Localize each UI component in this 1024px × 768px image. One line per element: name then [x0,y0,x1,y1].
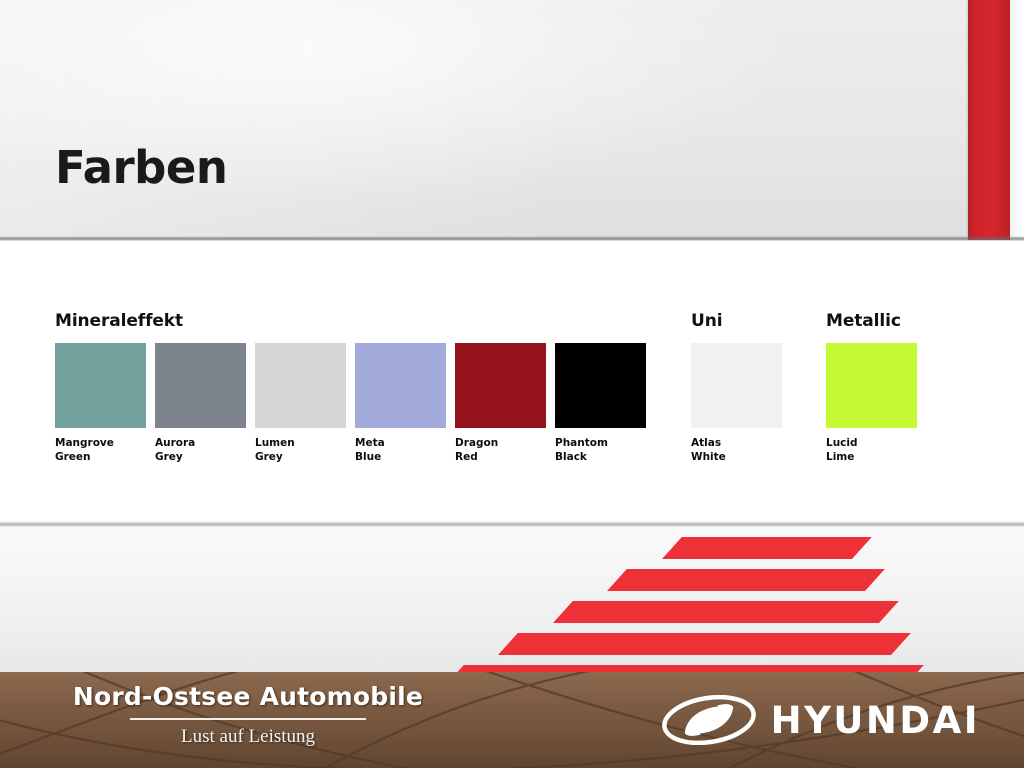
swatch-chip[interactable] [826,343,917,428]
red-stripes-graphic [0,527,1024,673]
swatch-chip[interactable] [455,343,546,428]
swatch-lumen-grey[interactable]: Lumen Grey [255,343,346,464]
page-title: Farben [55,141,227,194]
hyundai-lockup: HYUNDAI [661,695,980,745]
header-accent-bar [968,0,1010,240]
swatch-aurora-grey[interactable]: Aurora Grey [155,343,246,464]
header-band [0,0,1024,240]
swatch-label: Lumen Grey [255,436,346,464]
dealer-name: Nord-Ostsee Automobile [48,682,448,711]
swatch-group-mineraleffekt: Mineraleffekt Mangrove Green Aurora Grey… [55,311,655,464]
swatch-mangrove-green[interactable]: Mangrove Green [55,343,146,464]
content-panel: Mineraleffekt Mangrove Green Aurora Grey… [0,241,1024,526]
stripe-2 [607,569,885,591]
swatch-label: Aurora Grey [155,436,246,464]
stripe-3 [553,601,899,623]
swatch-atlas-white[interactable]: Atlas White [691,343,782,464]
swatch-group-uni: Uni Atlas White [691,311,791,464]
swatch-label: Phantom Black [555,436,646,464]
footer-bar: Nord-Ostsee Automobile Lust auf Leistung… [0,672,1024,768]
stripe-4 [498,633,911,655]
swatch-chip[interactable] [255,343,346,428]
swatch-chip[interactable] [691,343,782,428]
group-title-mineraleffekt: Mineraleffekt [55,311,655,331]
group-title-uni: Uni [691,311,791,331]
dealer-tagline: Lust auf Leistung [48,726,448,748]
swatch-label: Atlas White [691,436,782,464]
swatch-chip[interactable] [155,343,246,428]
swatch-group-metallic: Metallic Lucid Lime [826,311,926,464]
swatch-dragon-red[interactable]: Dragon Red [455,343,546,464]
group-swatches-mineraleffekt: Mangrove Green Aurora Grey Lumen Grey Me… [55,343,655,464]
brand-divider [130,718,366,720]
group-title-metallic: Metallic [826,311,926,331]
stripe-1 [662,537,872,559]
swatch-label: Dragon Red [455,436,546,464]
swatch-chip[interactable] [55,343,146,428]
group-swatches-uni: Atlas White [691,343,791,464]
swatch-chip[interactable] [555,343,646,428]
group-swatches-metallic: Lucid Lime [826,343,926,464]
hyundai-logo-icon [661,695,757,745]
lower-band [0,527,1024,673]
dealer-brand-block: Nord-Ostsee Automobile Lust auf Leistung [48,682,448,748]
swatch-label: Meta Blue [355,436,446,464]
swatch-meta-blue[interactable]: Meta Blue [355,343,446,464]
swatch-lucid-lime[interactable]: Lucid Lime [826,343,917,464]
swatch-label: Mangrove Green [55,436,146,464]
header-right-edge [1010,0,1024,240]
swatch-groups: Mineraleffekt Mangrove Green Aurora Grey… [55,311,926,464]
header-sheen [0,0,1024,240]
swatch-phantom-black[interactable]: Phantom Black [555,343,646,464]
hyundai-wordmark: HYUNDAI [771,699,980,742]
swatch-label: Lucid Lime [826,436,917,464]
slide: Farben Mineraleffekt Mangrove Green Auro… [0,0,1024,768]
swatch-chip[interactable] [355,343,446,428]
